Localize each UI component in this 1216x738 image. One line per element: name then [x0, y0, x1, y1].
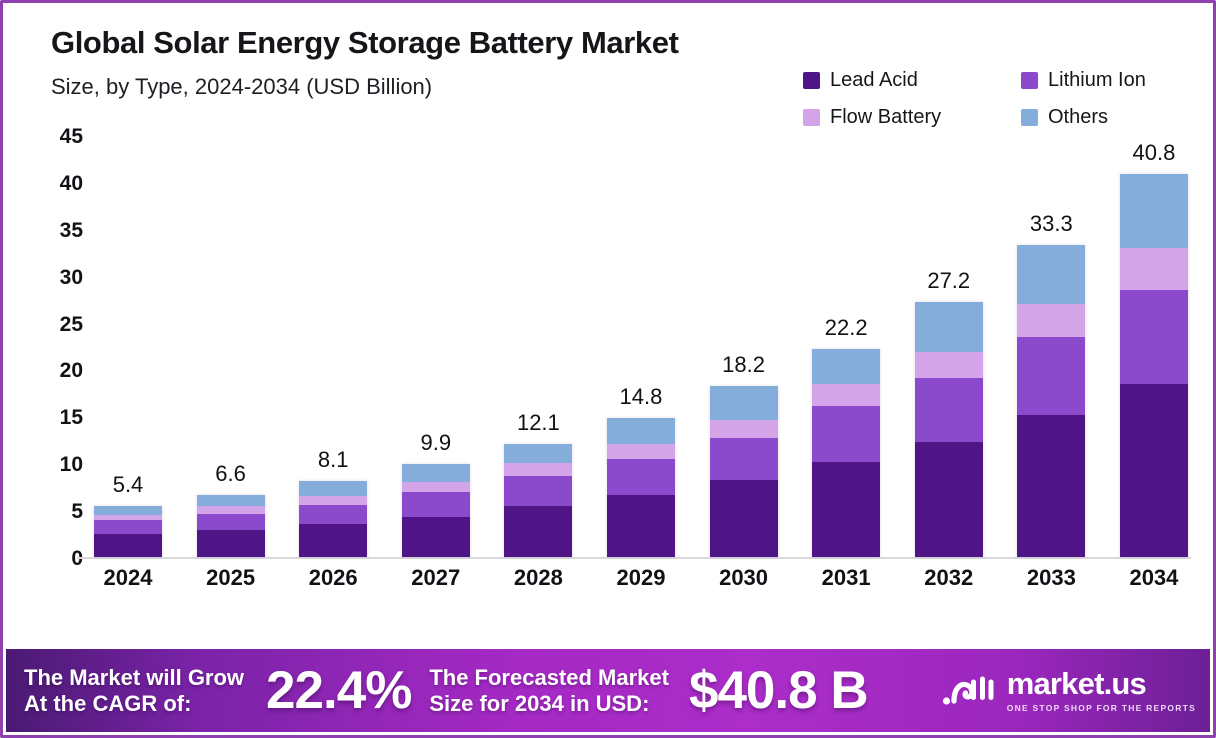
- bar-group[interactable]: 6.6: [194, 137, 268, 557]
- bar-segment-others: [812, 349, 880, 385]
- bar-group[interactable]: 8.1: [296, 137, 370, 557]
- bar-stack: [504, 444, 572, 557]
- bar-total-label: 9.9: [420, 430, 451, 456]
- forecast-label: The Forecasted Market Size for 2034 in U…: [429, 665, 669, 717]
- x-axis-tick-label: 2030: [707, 565, 781, 591]
- x-axis-tick-label: 2026: [296, 565, 370, 591]
- y-axis-tick-label: 45: [33, 125, 83, 149]
- bar-segment-lead-acid: [1120, 384, 1188, 557]
- bar-segment-flow-battery: [607, 444, 675, 459]
- logo-wordmark: market.us: [1007, 668, 1196, 699]
- bar-group[interactable]: 14.8: [604, 137, 678, 557]
- summary-banner: The Market will Grow At the CAGR of: 22.…: [6, 649, 1210, 732]
- bar-group[interactable]: 22.2: [809, 137, 883, 557]
- bar-group[interactable]: 40.8: [1117, 137, 1191, 557]
- bar-stack: [197, 495, 265, 557]
- bar-stack: [1017, 245, 1085, 557]
- bar-series-container: 5.46.68.19.912.114.818.222.227.233.340.8: [91, 137, 1191, 557]
- bar-total-label: 5.4: [113, 472, 144, 498]
- bar-segment-lithium-ion: [504, 476, 572, 506]
- legend-label: Others: [1048, 106, 1108, 129]
- bar-total-label: 12.1: [517, 410, 560, 436]
- bar-segment-lithium-ion: [607, 459, 675, 496]
- y-axis-tick-label: 30: [33, 266, 83, 290]
- bar-stack: [812, 349, 880, 557]
- bar-group[interactable]: 27.2: [912, 137, 986, 557]
- bar-segment-flow-battery: [504, 463, 572, 476]
- y-axis-tick-label: 40: [33, 172, 83, 196]
- y-axis-tick-label: 35: [33, 219, 83, 243]
- chart-header: Global Solar Energy Storage Battery Mark…: [51, 25, 679, 100]
- forecast-label-line1: The Forecasted Market: [429, 665, 669, 691]
- bar-segment-others: [1017, 245, 1085, 304]
- bar-segment-lead-acid: [915, 442, 983, 557]
- bar-segment-lead-acid: [94, 534, 162, 557]
- bar-segment-lithium-ion: [402, 492, 470, 516]
- x-axis-tick-label: 2033: [1014, 565, 1088, 591]
- bar-segment-flow-battery: [299, 496, 367, 504]
- bar-segment-lithium-ion: [1017, 337, 1085, 416]
- x-axis-tick-label: 2027: [399, 565, 473, 591]
- x-axis-tick-label: 2032: [912, 565, 986, 591]
- chart-legend: Lead AcidLithium IonFlow BatteryOthers: [803, 69, 1193, 129]
- bar-segment-others: [710, 386, 778, 420]
- bar-segment-lead-acid: [197, 530, 265, 557]
- bar-segment-lithium-ion: [94, 520, 162, 533]
- bar-segment-others: [299, 481, 367, 496]
- bar-segment-others: [1120, 174, 1188, 247]
- market-us-logo[interactable]: market.us ONE STOP SHOP FOR THE REPORTS: [942, 668, 1196, 713]
- x-axis-tick-label: 2031: [809, 565, 883, 591]
- bar-segment-lead-acid: [504, 506, 572, 557]
- bar-segment-others: [94, 506, 162, 514]
- logo-tagline: ONE STOP SHOP FOR THE REPORTS: [1007, 703, 1196, 713]
- bar-segment-lead-acid: [299, 524, 367, 557]
- bar-segment-lithium-ion: [812, 406, 880, 462]
- page-title: Global Solar Energy Storage Battery Mark…: [51, 25, 679, 61]
- bar-segment-lead-acid: [710, 480, 778, 557]
- legend-label: Lithium Ion: [1048, 69, 1146, 92]
- bar-segment-lead-acid: [402, 517, 470, 557]
- bar-stack: [607, 418, 675, 557]
- bar-segment-others: [504, 444, 572, 464]
- bar-segment-lead-acid: [1017, 415, 1085, 557]
- bar-stack: [94, 506, 162, 557]
- bar-total-label: 6.6: [215, 461, 246, 487]
- y-axis-tick-label: 15: [33, 406, 83, 430]
- legend-item-flow-battery[interactable]: Flow Battery: [803, 106, 1021, 129]
- legend-swatch-icon: [1021, 72, 1038, 89]
- bar-stack: [710, 386, 778, 557]
- bar-stack: [915, 302, 983, 557]
- bar-segment-flow-battery: [915, 352, 983, 378]
- bar-segment-lithium-ion: [710, 438, 778, 480]
- y-axis-tick-label: 0: [33, 547, 83, 571]
- legend-item-lead-acid[interactable]: Lead Acid: [803, 69, 1021, 92]
- bar-group[interactable]: 9.9: [399, 137, 473, 557]
- bar-total-label: 18.2: [722, 352, 765, 378]
- bar-group[interactable]: 33.3: [1014, 137, 1088, 557]
- x-axis-tick-label: 2034: [1117, 565, 1191, 591]
- bar-segment-others: [607, 418, 675, 443]
- bar-segment-lead-acid: [812, 462, 880, 557]
- bar-segment-lithium-ion: [299, 505, 367, 525]
- cagr-label-line2: At the CAGR of:: [24, 691, 244, 717]
- bar-stack: [1120, 174, 1188, 557]
- legend-label: Flow Battery: [830, 106, 941, 129]
- bar-group[interactable]: 12.1: [501, 137, 575, 557]
- legend-item-lithium-ion[interactable]: Lithium Ion: [1021, 69, 1193, 92]
- bar-total-label: 27.2: [927, 268, 970, 294]
- y-axis-tick-label: 20: [33, 359, 83, 383]
- y-axis-tick-label: 10: [33, 453, 83, 477]
- bar-total-label: 22.2: [825, 315, 868, 341]
- x-axis-tick-label: 2024: [91, 565, 165, 591]
- bar-total-label: 33.3: [1030, 211, 1073, 237]
- bar-total-label: 40.8: [1133, 140, 1176, 166]
- bar-segment-others: [402, 464, 470, 482]
- bar-segment-lithium-ion: [197, 514, 265, 530]
- bar-segment-flow-battery: [710, 420, 778, 438]
- bar-stack: [299, 481, 367, 557]
- market-us-logo-icon: [942, 671, 998, 711]
- x-axis-tick-label: 2029: [604, 565, 678, 591]
- bar-segment-flow-battery: [1017, 304, 1085, 337]
- forecast-value: $40.8 B: [689, 660, 868, 721]
- bar-segment-others: [197, 495, 265, 506]
- x-axis-tick-label: 2025: [194, 565, 268, 591]
- logo-text: market.us ONE STOP SHOP FOR THE REPORTS: [1007, 668, 1196, 713]
- infographic-root: Global Solar Energy Storage Battery Mark…: [0, 0, 1216, 738]
- cagr-value: 22.4%: [266, 660, 411, 721]
- bar-segment-flow-battery: [1120, 248, 1188, 290]
- bar-stack: [402, 464, 470, 557]
- x-axis-tick-label: 2028: [501, 565, 575, 591]
- forecast-label-line2: Size for 2034 in USD:: [429, 691, 669, 717]
- plot-area: 051015202530354045 5.46.68.19.912.114.81…: [91, 137, 1191, 559]
- legend-swatch-icon: [803, 109, 820, 126]
- bar-total-label: 14.8: [620, 384, 663, 410]
- legend-label: Lead Acid: [830, 69, 918, 92]
- bar-segment-lead-acid: [607, 495, 675, 557]
- bar-segment-flow-battery: [812, 384, 880, 406]
- legend-item-others[interactable]: Others: [1021, 106, 1193, 129]
- y-axis-tick-label: 25: [33, 313, 83, 337]
- bar-segment-lithium-ion: [915, 378, 983, 442]
- bar-group[interactable]: 18.2: [707, 137, 781, 557]
- chart-subtitle: Size, by Type, 2024-2034 (USD Billion): [51, 74, 679, 100]
- bar-segment-others: [915, 302, 983, 352]
- legend-swatch-icon: [1021, 109, 1038, 126]
- x-axis: 2024202520262027202820292030203120322033…: [91, 565, 1191, 591]
- bar-segment-flow-battery: [197, 506, 265, 514]
- cagr-label: The Market will Grow At the CAGR of:: [24, 665, 244, 717]
- bar-total-label: 8.1: [318, 447, 349, 473]
- y-axis-tick-label: 5: [33, 500, 83, 524]
- y-axis: 051015202530354045: [33, 137, 83, 559]
- bar-group[interactable]: 5.4: [91, 137, 165, 557]
- bar-segment-lithium-ion: [1120, 290, 1188, 384]
- x-axis-baseline: [77, 557, 1191, 559]
- legend-swatch-icon: [803, 72, 820, 89]
- cagr-label-line1: The Market will Grow: [24, 665, 244, 691]
- bar-segment-flow-battery: [402, 482, 470, 492]
